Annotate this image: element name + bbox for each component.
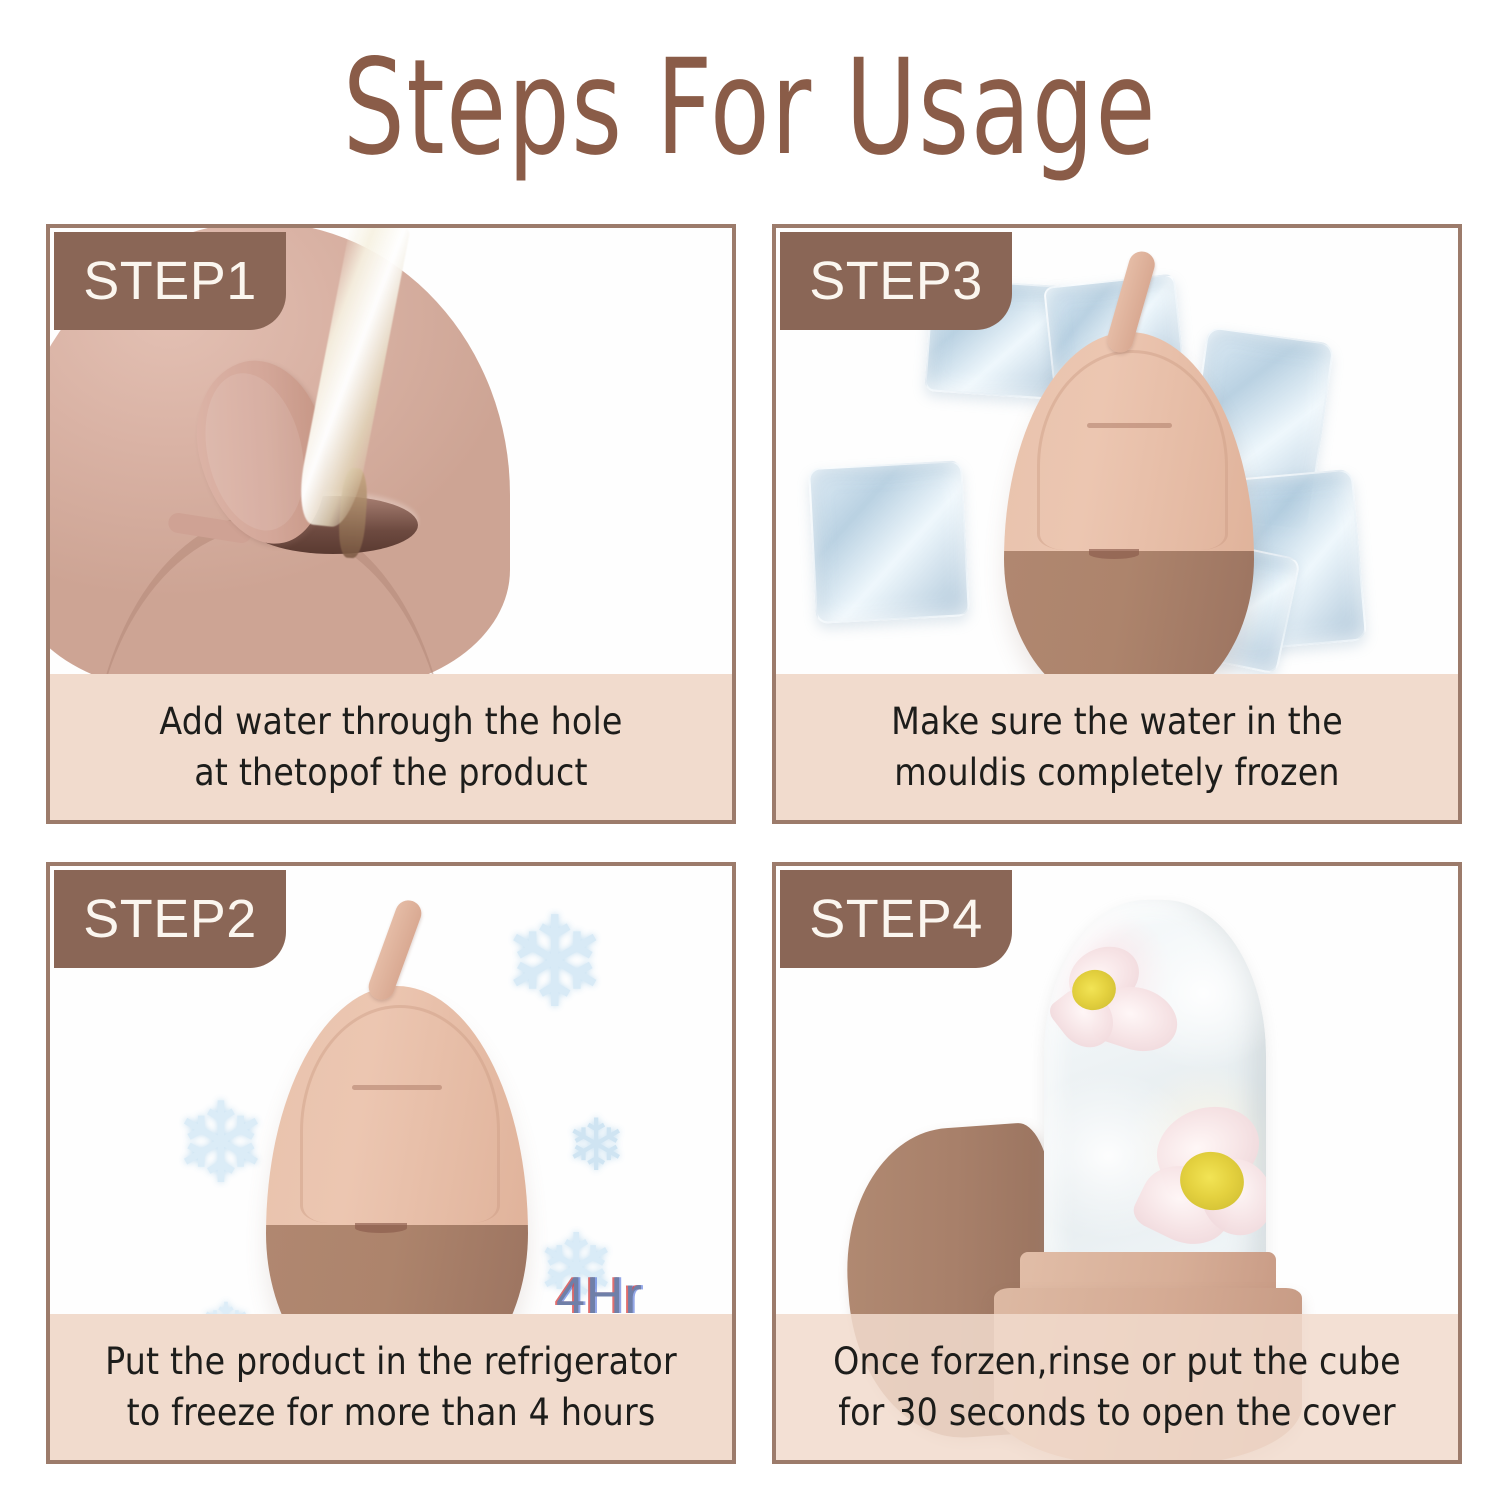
step-badge-1: STEP1	[54, 232, 286, 330]
ice-cube-icon	[808, 460, 970, 624]
frozen-flower-ice-cube-icon	[1044, 900, 1266, 1288]
caption-line-1: Add water through the hole	[159, 696, 622, 747]
step-caption-1: Add water through the hole at thetopof t…	[50, 674, 732, 820]
step-caption-3: Make sure the water in the mouldis compl…	[776, 674, 1458, 820]
caption-line-2: for 30 seconds to open the cover	[838, 1387, 1396, 1438]
step-panel-4: STEP4 Once forzen,rinse or put the cube …	[772, 862, 1462, 1464]
caption-line-1: Once forzen,rinse or put the cube	[833, 1336, 1401, 1387]
ice-roller-mold-icon	[1004, 332, 1254, 710]
caption-line-1: Put the product in the refrigerator	[105, 1336, 677, 1387]
step-badge-3: STEP3	[780, 232, 1012, 330]
page-title: Steps For Usage	[135, 34, 1365, 182]
mold-cap	[1004, 332, 1254, 551]
mold-seam	[355, 1223, 407, 1233]
step-caption-4: Once forzen,rinse or put the cube for 30…	[776, 1314, 1458, 1460]
caption-line-2: mouldis completely frozen	[894, 747, 1339, 798]
step-panel-2: ❄ ❄ ❄ ❄ ❄ 4Hr STEP2 Put the product in t…	[46, 862, 736, 1464]
mold-cap	[266, 986, 528, 1225]
caption-line-2: at thetopof the product	[194, 747, 588, 798]
step-badge-4: STEP4	[780, 870, 1012, 968]
step-panel-3: STEP3 Make sure the water in the mouldis…	[772, 224, 1462, 824]
step-caption-2: Put the product in the refrigerator to f…	[50, 1314, 732, 1460]
snowflake-icon: ❄	[566, 1110, 626, 1182]
mold-slot	[1087, 423, 1172, 428]
caption-line-1: Make sure the water in the	[891, 696, 1343, 747]
caption-line-2: to freeze for more than 4 hours	[127, 1387, 656, 1438]
step-panel-1: STEP1 Add water through the hole at thet…	[46, 224, 736, 824]
snowflake-icon: ❄	[174, 1088, 268, 1200]
step-badge-2: STEP2	[54, 870, 286, 968]
mold-slot	[352, 1085, 441, 1090]
infographic-page: Steps For Usage STEP1 Add water through …	[0, 0, 1500, 1500]
